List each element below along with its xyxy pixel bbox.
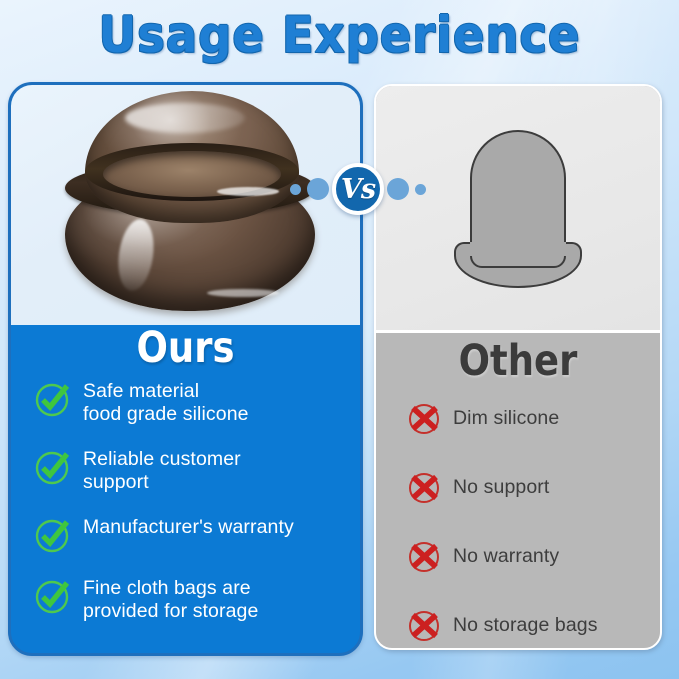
list-item: No support: [404, 467, 654, 507]
list-item-label: Dim silicone: [453, 406, 559, 430]
dot-icon: [415, 184, 426, 195]
x-circle-icon: [404, 467, 444, 507]
list-item-label-line1: Safe material: [83, 380, 199, 402]
gray-dome-cup-silhouette: [454, 130, 582, 288]
cup-gloss-highlight-mid: [217, 187, 279, 196]
list-item: No warranty: [404, 536, 654, 576]
check-circle-icon: [33, 515, 73, 555]
list-item-label-line1: Fine cloth bags are: [83, 577, 251, 599]
list-item: Fine cloth bags are provided for storage: [33, 576, 363, 623]
dot-icon: [290, 184, 301, 195]
list-item: Dim silicone: [404, 398, 654, 438]
other-feature-list: Dim silicone No support No warranty: [404, 398, 654, 650]
list-item-label: No warranty: [453, 544, 559, 568]
vs-badge-icon: Vs: [332, 163, 384, 215]
dot-icon: [307, 178, 329, 200]
list-item-label: Manufacturer's warranty: [83, 515, 294, 539]
list-item: No storage bags: [404, 605, 654, 645]
vs-badge-label: Vs: [341, 176, 375, 203]
ours-heading: Ours: [35, 325, 335, 371]
check-circle-icon: [33, 379, 73, 419]
dot-icon: [387, 178, 409, 200]
x-circle-icon: [404, 605, 444, 645]
list-item-label: No support: [453, 475, 549, 499]
list-item-label-line2: provided for storage: [83, 600, 258, 622]
list-item: Manufacturer's warranty: [33, 515, 363, 555]
dome-seam-shape: [470, 242, 566, 256]
vs-separator: Vs: [290, 160, 430, 218]
list-item: Reliable customer support: [33, 447, 363, 494]
list-item-label-line1: Reliable customer: [83, 448, 241, 470]
page-title: Usage Experience: [24, 6, 655, 64]
silicone-cupping-cup-photo: [57, 91, 327, 319]
cup-gloss-highlight-top: [125, 103, 245, 133]
check-circle-icon: [33, 576, 73, 616]
list-item-label-line2: support: [83, 471, 149, 493]
ours-feature-list: Safe material food grade silicone Reliab…: [33, 379, 363, 644]
list-item: Safe material food grade silicone: [33, 379, 363, 426]
list-item-label-line2: food grade silicone: [83, 403, 249, 425]
other-heading: Other: [396, 338, 640, 384]
list-item-label: No storage bags: [453, 613, 598, 637]
check-circle-icon: [33, 447, 73, 487]
x-circle-icon: [404, 398, 444, 438]
cup-gloss-highlight-bottom: [207, 289, 279, 297]
x-circle-icon: [404, 536, 444, 576]
